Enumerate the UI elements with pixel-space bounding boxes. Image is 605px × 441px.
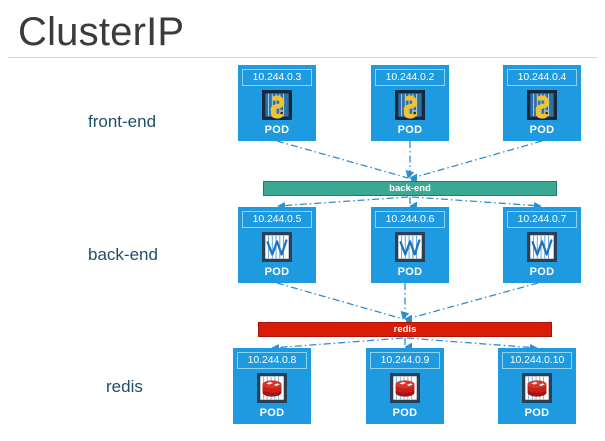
pod-ip-label: 10.244.0.4 bbox=[507, 69, 577, 86]
pod-frontend-1[interactable]: 10.244.0.3 POD bbox=[238, 65, 316, 141]
pod-ip-label: 10.244.0.5 bbox=[242, 211, 312, 228]
pod-caption: POD bbox=[498, 407, 576, 419]
pod-frontend-2[interactable]: 10.244.0.2 POD bbox=[371, 65, 449, 141]
backend-app-icon bbox=[262, 232, 292, 262]
pod-caption: POD bbox=[238, 124, 316, 136]
pod-caption: POD bbox=[371, 124, 449, 136]
pod-caption: POD bbox=[503, 124, 581, 136]
pod-backend-1[interactable]: 10.244.0.5 POD bbox=[238, 207, 316, 283]
pod-caption: POD bbox=[503, 266, 581, 278]
pod-ip-label: 10.244.0.6 bbox=[375, 211, 445, 228]
title-divider bbox=[8, 57, 597, 58]
edge-backend-service-to-backend-pods bbox=[278, 197, 541, 206]
pod-ip-label: 10.244.0.3 bbox=[242, 69, 312, 86]
edge-frontend-to-backend-service bbox=[277, 141, 542, 178]
pod-ip-label: 10.244.0.10 bbox=[502, 352, 572, 369]
pod-ip-label: 10.244.0.2 bbox=[375, 69, 445, 86]
pod-frontend-3[interactable]: 10.244.0.4 POD bbox=[503, 65, 581, 141]
service-bar-backend[interactable]: back-end bbox=[263, 181, 557, 196]
tier-label-redis: redis bbox=[106, 377, 143, 397]
redis-icon bbox=[522, 373, 552, 403]
edge-redis-service-to-redis-pods bbox=[272, 338, 537, 348]
redis-icon bbox=[257, 373, 287, 403]
tier-label-frontend: front-end bbox=[88, 112, 156, 132]
python-app-icon bbox=[527, 90, 557, 120]
pod-caption: POD bbox=[238, 266, 316, 278]
pod-caption: POD bbox=[233, 407, 311, 419]
backend-app-icon bbox=[527, 232, 557, 262]
pod-redis-1[interactable]: 10.244.0.8 POD bbox=[233, 348, 311, 424]
pod-ip-label: 10.244.0.7 bbox=[507, 211, 577, 228]
pod-backend-2[interactable]: 10.244.0.6 POD bbox=[371, 207, 449, 283]
pod-ip-label: 10.244.0.9 bbox=[370, 352, 440, 369]
page-title: ClusterIP bbox=[18, 8, 184, 56]
redis-icon bbox=[390, 373, 420, 403]
pod-caption: POD bbox=[371, 266, 449, 278]
pod-backend-3[interactable]: 10.244.0.7 POD bbox=[503, 207, 581, 283]
service-bar-redis[interactable]: redis bbox=[258, 322, 552, 337]
pod-ip-label: 10.244.0.8 bbox=[237, 352, 307, 369]
pod-redis-3[interactable]: 10.244.0.10 POD bbox=[498, 348, 576, 424]
pod-redis-2[interactable]: 10.244.0.9 POD bbox=[366, 348, 444, 424]
clusterip-diagram-slide: ClusterIP front-end back-end redis bbox=[0, 0, 605, 441]
python-app-icon bbox=[262, 90, 292, 120]
edge-backend-pods-to-redis-service bbox=[277, 283, 538, 319]
tier-label-backend: back-end bbox=[88, 245, 158, 265]
python-app-icon bbox=[395, 90, 425, 120]
backend-app-icon bbox=[395, 232, 425, 262]
pod-caption: POD bbox=[366, 407, 444, 419]
